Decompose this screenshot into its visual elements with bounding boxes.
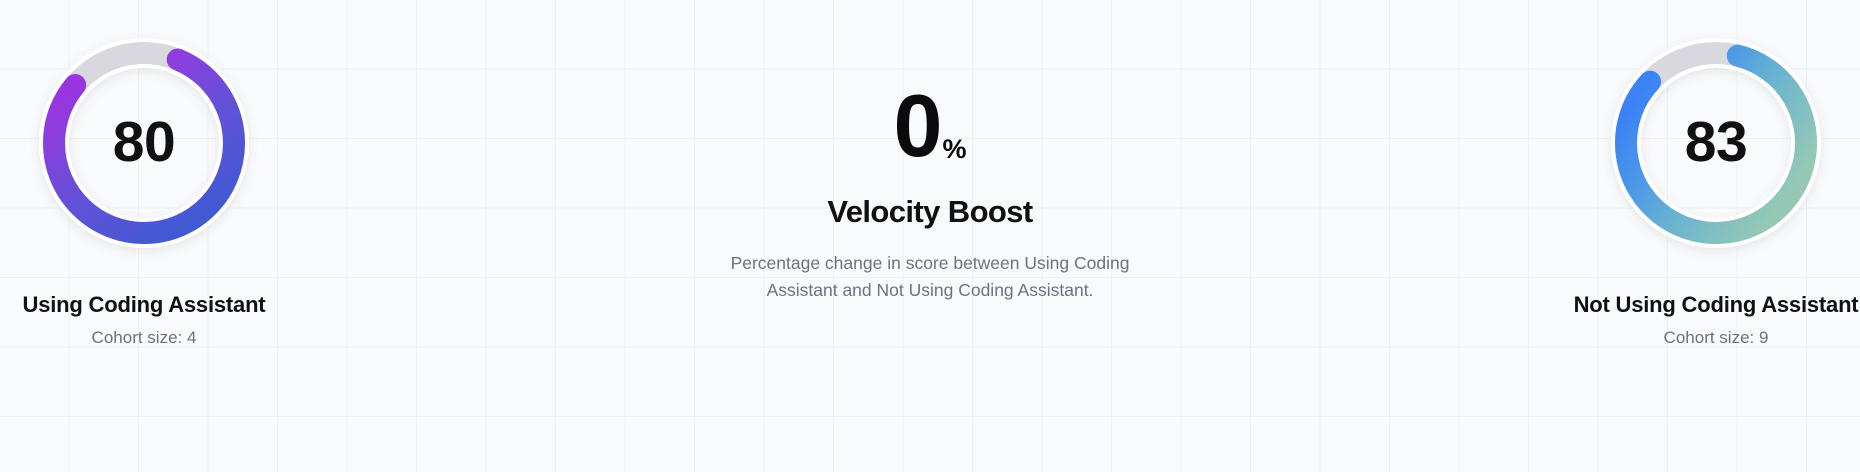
left-gauge-cohort-size: Cohort size: 4 <box>92 328 197 348</box>
left-gauge: 80 <box>39 38 249 248</box>
left-cohort-panel: 80 Using Coding Assistant Cohort size: 4 <box>0 0 424 348</box>
right-gauge-value: 83 <box>1611 38 1821 248</box>
delta-title: Velocity Boost <box>827 194 1032 230</box>
center-summary-panel: 0 % Velocity Boost Percentage change in … <box>650 0 1210 304</box>
delta-percent-unit: % <box>942 136 966 163</box>
velocity-boost-comparison: 80 Using Coding Assistant Cohort size: 4… <box>0 0 1860 472</box>
right-cohort-panel: 83 Not Using Coding Assistant Cohort siz… <box>1436 0 1860 348</box>
delta-value-row: 0 % <box>894 84 967 168</box>
left-gauge-label: Using Coding Assistant <box>23 292 266 318</box>
delta-description: Percentage change in score between Using… <box>702 250 1158 304</box>
right-gauge-cohort-size: Cohort size: 9 <box>1664 328 1769 348</box>
right-gauge-label: Not Using Coding Assistant <box>1574 292 1859 318</box>
delta-number: 0 <box>894 84 940 168</box>
left-gauge-value: 80 <box>39 38 249 248</box>
right-gauge: 83 <box>1611 38 1821 248</box>
